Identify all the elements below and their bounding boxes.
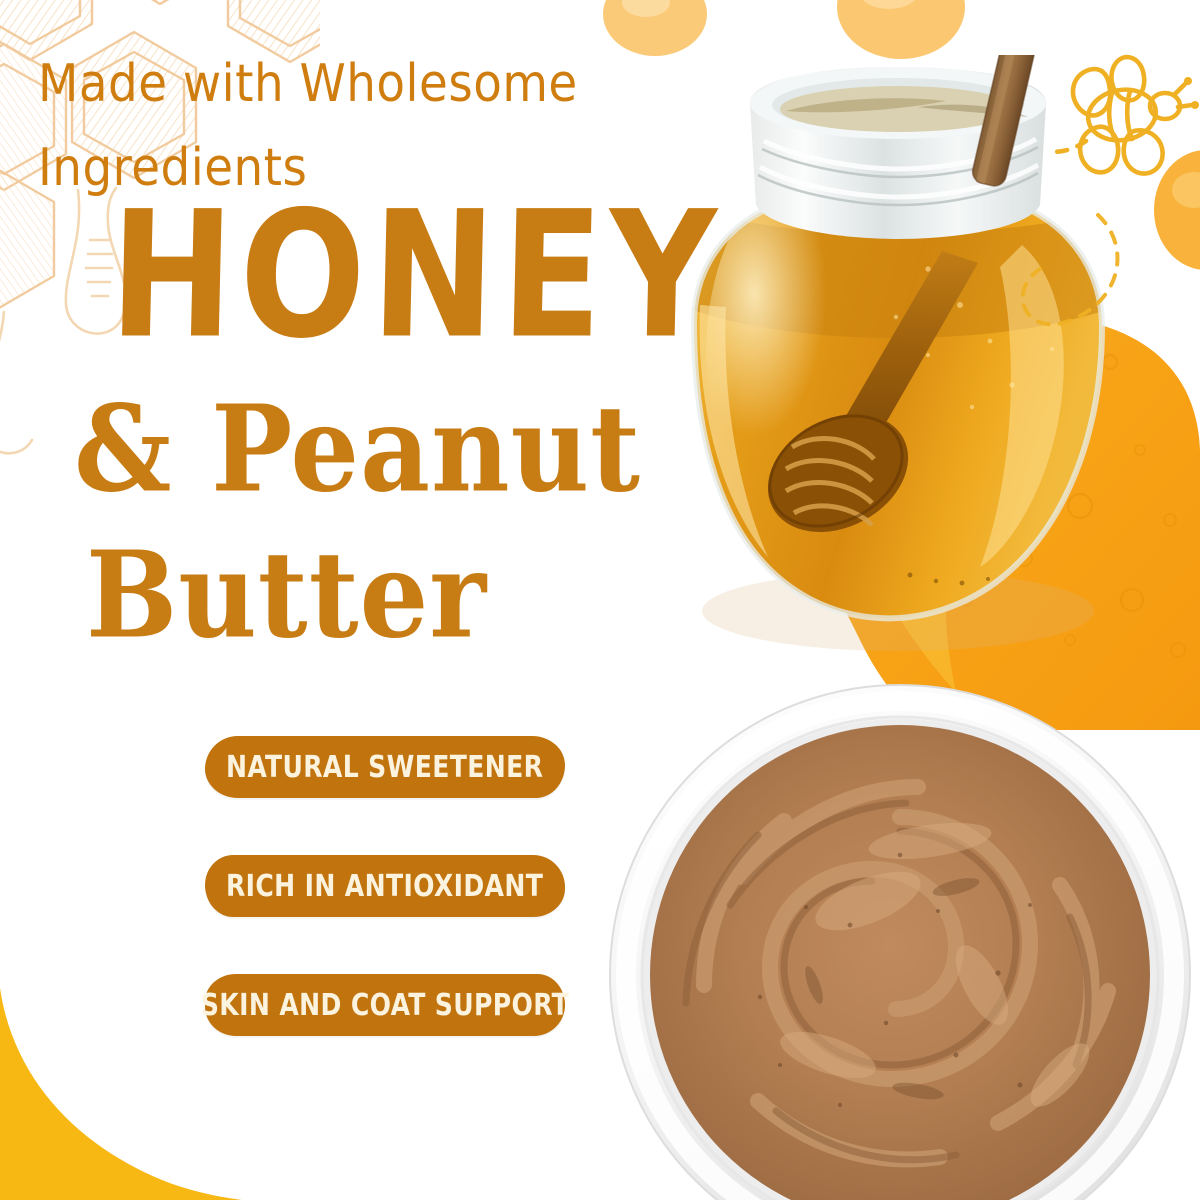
benefit-pill-rich-in-antioxidant[interactable]: RICH IN ANTIOXIDANT bbox=[205, 855, 565, 917]
benefit-label: SKIN AND COAT SUPPORT bbox=[201, 988, 569, 1023]
benefit-label: RICH IN ANTIOXIDANT bbox=[226, 869, 543, 904]
title-peanut: & Peanut bbox=[74, 390, 700, 509]
bee-icon bbox=[1050, 45, 1200, 185]
peanut-butter-bowl-photo bbox=[600, 655, 1200, 1200]
poster-canvas: Made with Wholesome Ingredients HONEY & … bbox=[0, 0, 1200, 1200]
tagline-line-1: Made with Wholesome bbox=[38, 42, 758, 126]
benefit-list: NATURAL SWEETENER RICH IN ANTIOXIDANT SK… bbox=[205, 736, 565, 1036]
benefit-pill-natural-sweetener[interactable]: NATURAL SWEETENER bbox=[205, 736, 565, 798]
page-title: HONEY & Peanut Butter bbox=[60, 218, 700, 655]
benefit-pill-skin-and-coat-support[interactable]: SKIN AND COAT SUPPORT bbox=[205, 974, 565, 1036]
honey-splash-shape bbox=[780, 300, 1200, 730]
benefit-label: NATURAL SWEETENER bbox=[226, 750, 543, 785]
honey-drop-icon bbox=[1152, 148, 1200, 273]
title-honey: HONEY bbox=[108, 193, 704, 359]
honey-drop-icon bbox=[835, 0, 970, 65]
title-butter: Butter bbox=[86, 536, 700, 655]
